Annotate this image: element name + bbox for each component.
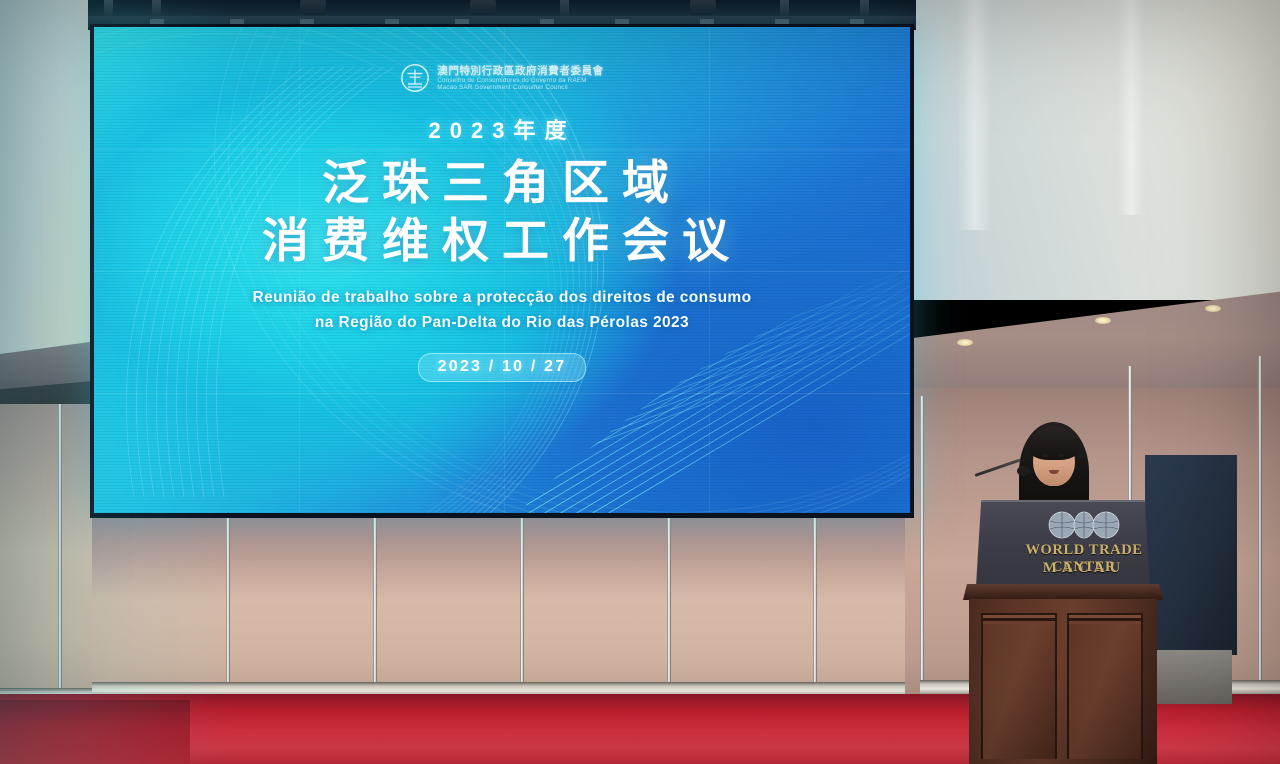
- stage-lamp-icon: [300, 0, 326, 15]
- wall-trim-strip: [1258, 356, 1262, 696]
- slide-subtitle-line-2: na Região do Pan-Delta do Rio das Pérola…: [253, 310, 752, 335]
- wall-trim-strip: [226, 514, 230, 686]
- wall-trim-strip: [520, 514, 524, 688]
- truss-hook: [152, 0, 161, 16]
- slide-title-line-2: 消费维权工作会议: [262, 211, 742, 271]
- eye-right: [1058, 454, 1064, 457]
- podium-front-plaque: WORLD TRADE CENTER MACAU: [976, 500, 1150, 586]
- podium-body: [969, 599, 1157, 764]
- led-screen-surface: 澳門特別行政區政府消費者委員會 Conselho de Consumidores…: [94, 27, 910, 513]
- red-carpet-floor-left: [0, 700, 190, 764]
- truss-hook: [780, 0, 789, 16]
- wall-trim-strip: [373, 514, 377, 686]
- slide-subtitle-line-1: Reunião de trabalho sobre a protecção do…: [253, 285, 752, 310]
- stage-lamp-icon: [690, 0, 716, 15]
- slide-subtitle: Reunião de trabalho sobre a protecção do…: [253, 285, 752, 335]
- microphone-head: [1017, 466, 1030, 476]
- podium-panel-right: [1067, 613, 1143, 759]
- truss-hook: [560, 0, 569, 16]
- led-screen: 澳門特別行政區政府消費者委員會 Conselho de Consumidores…: [90, 24, 914, 518]
- slide-title-line-1: 泛珠三角区域: [322, 153, 682, 213]
- logo-chinese-name: 澳門特別行政區政府消費者委員會: [437, 65, 604, 77]
- logo-english-name: Macao SAR Government Consumer Council: [437, 84, 604, 91]
- wall-trim-strip: [667, 514, 671, 690]
- loudspeaker-stand: [1152, 650, 1232, 704]
- downlight-icon: [1095, 317, 1111, 324]
- conference-hall-photo: 澳門特別行政區政府消費者委員會 Conselho de Consumidores…: [0, 0, 1280, 764]
- eye-left: [1042, 454, 1048, 457]
- slide-year: 2023年度: [429, 113, 576, 145]
- downlight-icon: [1205, 305, 1221, 312]
- wall-trim-strip: [920, 396, 924, 696]
- wall-trim-strip: [813, 514, 817, 692]
- wall-light-stripe: [1118, 0, 1144, 215]
- loudspeaker-cabinet-icon: [1145, 455, 1237, 655]
- consumer-council-balance-icon: [400, 63, 430, 93]
- downlight-icon: [957, 339, 973, 346]
- podium-panel-left: [981, 613, 1057, 759]
- right-upper-wall: [900, 0, 1280, 300]
- logo-portuguese-name: Conselho de Consumidores do Governo da R…: [437, 77, 604, 84]
- stage-lamp-icon: [470, 0, 496, 15]
- slide-date-badge: 2023 / 10 / 27: [418, 353, 587, 382]
- wall-trim-strip: [58, 404, 62, 704]
- slide-content: 澳門特別行政區政府消費者委員會 Conselho de Consumidores…: [94, 27, 910, 513]
- consumer-council-logo: 澳門特別行政區政府消費者委員會 Conselho de Consumidores…: [400, 63, 604, 93]
- logo-text-block: 澳門特別行政區政府消費者委員會 Conselho de Consumidores…: [437, 65, 604, 92]
- stage-panel-wall: [92, 514, 912, 700]
- podium-title-line-2: MACAU: [997, 560, 1171, 577]
- truss-hook: [104, 0, 113, 16]
- truss-hook: [860, 0, 869, 16]
- globe-emblem-icon: [1040, 511, 1128, 539]
- podium-ledge: [963, 584, 1163, 600]
